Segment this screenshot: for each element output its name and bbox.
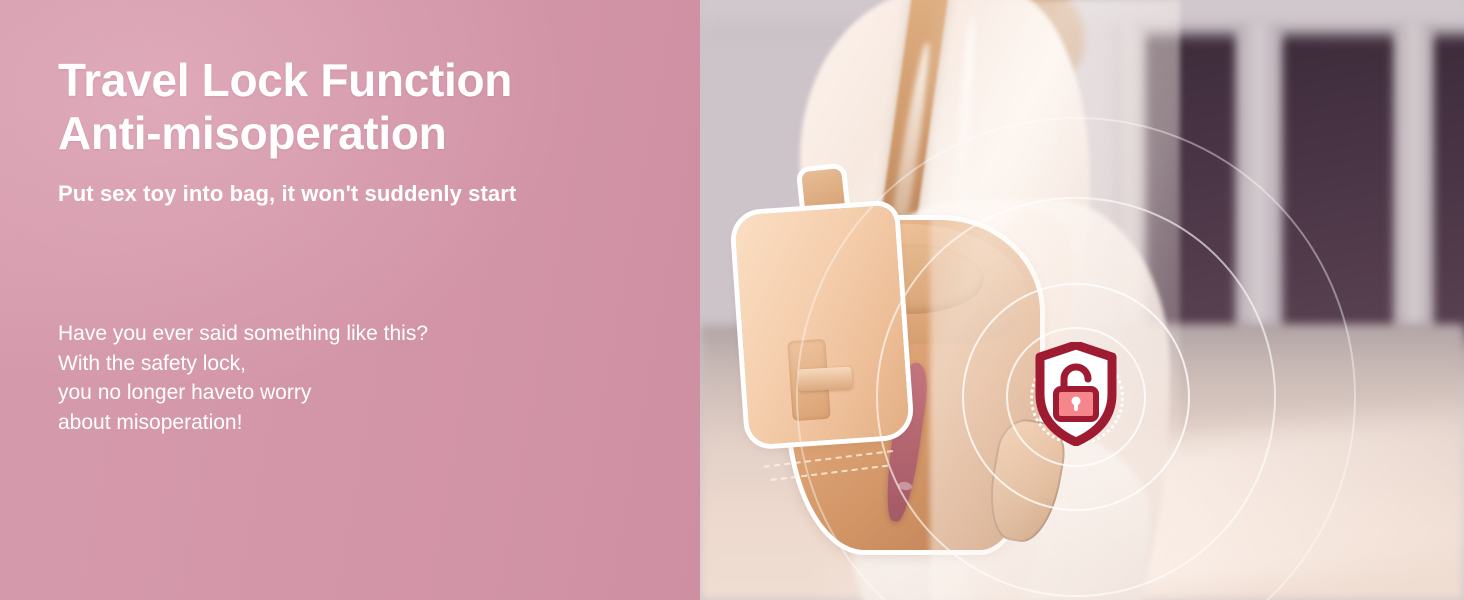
subtitle: Put sex toy into bag, it won't suddenly … <box>58 179 516 209</box>
page-title: Travel Lock Function Anti-misoperation <box>58 54 512 160</box>
window-opening <box>1428 34 1464 344</box>
shield-icon <box>1034 342 1118 446</box>
body-copy: Have you ever said something like this? … <box>58 319 428 437</box>
pillar <box>1396 26 1432 356</box>
product-photo <box>700 0 1464 600</box>
window-opening <box>1278 34 1398 344</box>
backpack-buckle <box>797 367 852 392</box>
travel-lock-badge <box>1034 342 1118 446</box>
promo-banner: Travel Lock Function Anti-misoperation P… <box>0 0 1464 600</box>
pillar <box>1238 26 1280 356</box>
leather-backpack <box>742 170 1072 570</box>
